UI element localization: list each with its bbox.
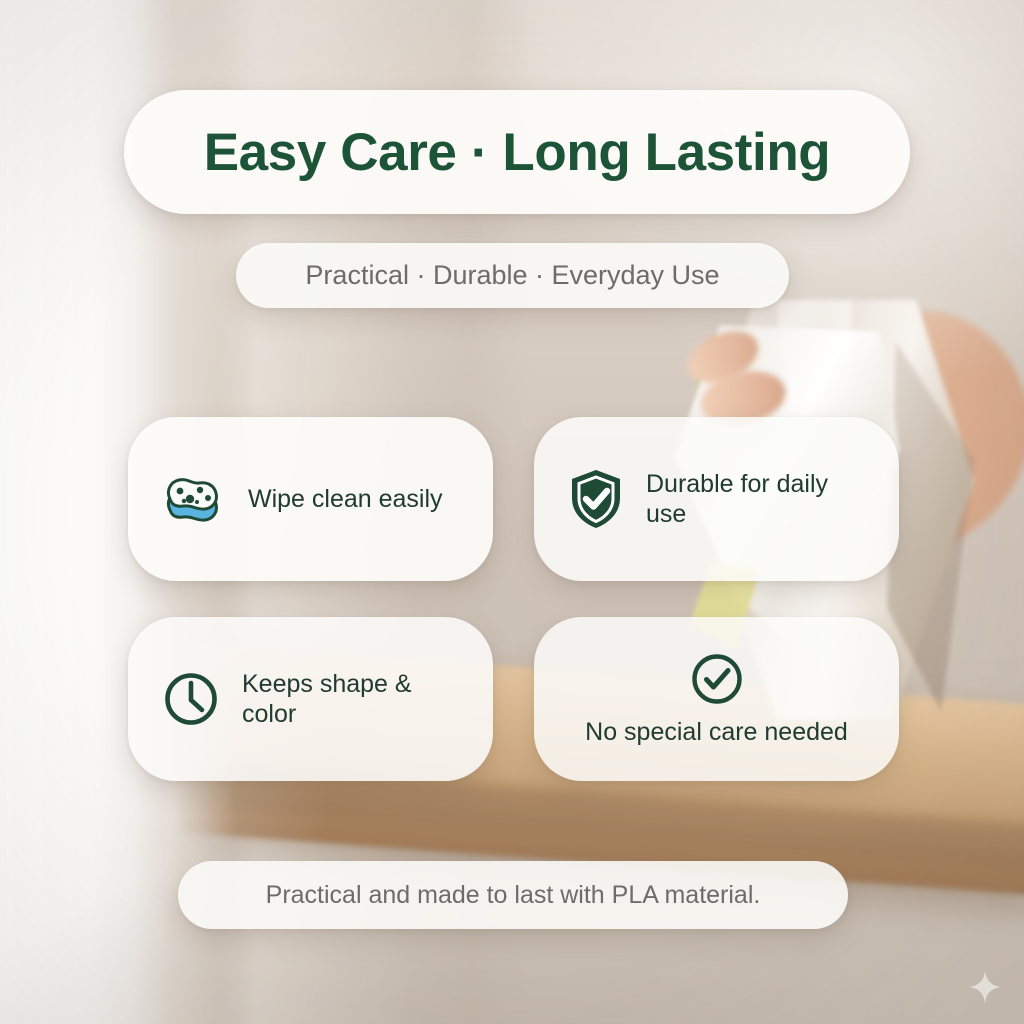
sparkle-icon: [968, 970, 1002, 1004]
feature-card-durable[interactable]: Durable for daily use: [534, 417, 899, 581]
check-circle-icon: [689, 651, 745, 707]
subtitle-pill: Practical · Durable · Everyday Use: [236, 243, 789, 308]
footer-text: Practical and made to last with PLA mate…: [266, 881, 761, 910]
clock-icon: [162, 670, 220, 728]
feature-label: No special care needed: [585, 717, 848, 747]
feature-card-no-special-care[interactable]: No special care needed: [534, 617, 899, 781]
feature-label: Durable for daily use: [646, 469, 865, 529]
feature-card-keeps-shape[interactable]: Keeps shape & color: [128, 617, 493, 781]
overlay-content: Easy Care · Long Lasting Practical · Dur…: [0, 0, 1024, 1024]
shield-check-icon: [568, 468, 624, 530]
feature-card-wipe-clean[interactable]: Wipe clean easily: [128, 417, 493, 581]
feature-label: Wipe clean easily: [248, 484, 443, 514]
page-subtitle: Practical · Durable · Everyday Use: [305, 260, 719, 291]
footer-pill: Practical and made to last with PLA mate…: [178, 861, 848, 929]
feature-label: Keeps shape & color: [242, 669, 459, 729]
infographic-canvas: Easy Care · Long Lasting Practical · Dur…: [0, 0, 1024, 1024]
title-pill: Easy Care · Long Lasting: [124, 90, 910, 214]
page-title: Easy Care · Long Lasting: [204, 122, 831, 183]
sponge-icon: [162, 471, 226, 527]
